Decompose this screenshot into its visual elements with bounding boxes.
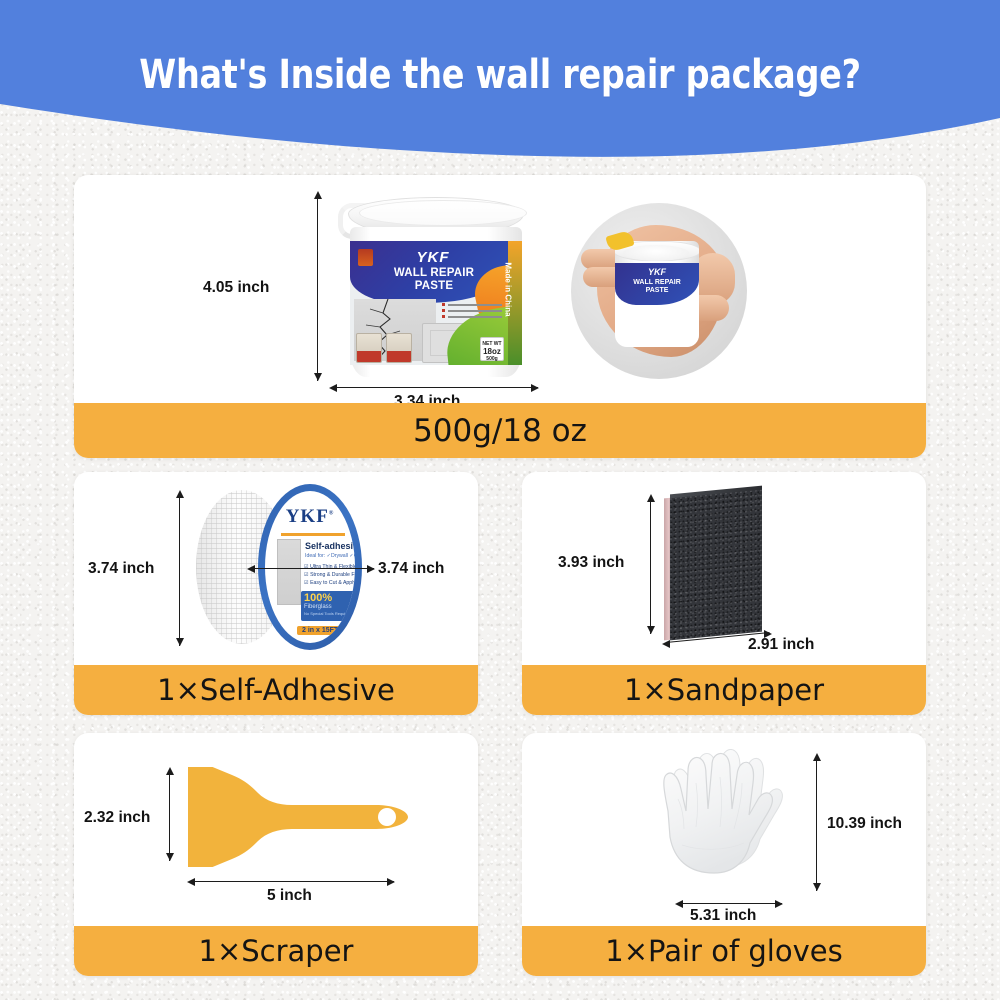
product-card-mesh: YKF® Self-adhesive Mesh Ideal for: ✓Dryw… [74, 472, 478, 715]
mesh-roll-label: YKF® Self-adhesive Mesh Ideal for: ✓Dryw… [265, 491, 355, 643]
hand-inset-photo: YKF WALL REPAIR PASTE [571, 203, 747, 379]
paste-tub-illustration: YKF WALL REPAIR PASTE Made in China [342, 189, 530, 385]
paste-height-arrow-bottom [314, 373, 322, 381]
mesh-fiberglass-badge: 100% Fiberglass No Special Tools Require… [301, 591, 355, 621]
sandpaper-width-label: 2.91 inch [748, 636, 814, 654]
mesh-brand-text: YKF® [265, 506, 355, 528]
scraper-card-label: 1×Scraper [74, 926, 478, 976]
hand-held-tub: YKF WALL REPAIR PASTE [615, 241, 699, 347]
mesh-brand-value: YKF [286, 506, 329, 527]
mesh-bullet-2: ☑ Strong & Durable Fiberglass [304, 571, 355, 579]
paste-width-arrow-right [531, 384, 539, 392]
mesh-bullets: ☑ Ultra Thin & Flexible ☑ Strong & Durab… [304, 563, 355, 587]
scraper-height-arrow-top [166, 767, 174, 775]
mesh-title: Self-adhesive Mesh [305, 541, 355, 551]
mesh-percent-sub: Fiberglass [304, 604, 354, 611]
hand-tub-name: WALL REPAIR PASTE [615, 279, 699, 295]
scraper-width-arrow-right [387, 878, 395, 886]
sandpaper-width-arrow-left [662, 640, 670, 648]
sandpaper-card-stage: 3.93 inch 2.91 inch [522, 472, 926, 665]
mesh-bullet-3: ☑ Easy to Cut & Apply [304, 579, 355, 587]
paste-card-label: 500g/18 oz [74, 403, 926, 458]
scraper-width-label: 5 inch [267, 887, 312, 905]
gloves-card-stage: 10.39 inch 5.31 inch [522, 733, 926, 926]
sandpaper-grit-face [670, 490, 762, 641]
scraper-height-label: 2.32 inch [84, 809, 150, 827]
paste-height-dimension-line [317, 195, 318, 381]
scraper-width-arrow-left [187, 878, 195, 886]
gloves-height-arrow-bottom [813, 883, 821, 891]
tub-net-weight-badge: NET WT 18oz 500g [480, 337, 504, 361]
tub-lid-top [359, 200, 527, 226]
gloves-card-label: 1×Pair of gloves [522, 926, 926, 976]
gloves-height-arrow-top [813, 753, 821, 761]
scraper-height-arrow-bottom [166, 853, 174, 861]
mesh-width-dimension-line [252, 568, 374, 569]
tub-label: YKF WALL REPAIR PASTE Made in China [350, 241, 522, 365]
mesh-size-badge: 2 in x 15FT [297, 626, 343, 635]
gloves-width-label: 5.31 inch [690, 907, 756, 925]
mesh-label-rule [281, 533, 345, 536]
sandpaper-height-arrow-top [647, 494, 655, 502]
tub-application-badges [356, 333, 412, 363]
gloves-width-arrow-right [775, 900, 783, 908]
tub-badge [356, 333, 382, 363]
tub-badge [386, 333, 412, 363]
sandpaper-card-label: 1×Sandpaper [522, 665, 926, 715]
hand-tub-brand: YKF [615, 267, 699, 277]
mesh-width-arrow-right [367, 565, 375, 573]
gloves-width-dimension-line [680, 903, 782, 904]
paste-card-stage: YKF WALL REPAIR PASTE Made in China [74, 175, 926, 403]
tub-bullet [442, 309, 502, 312]
tub-brand-text: YKF [350, 249, 516, 266]
paste-height-arrow-top [314, 191, 322, 199]
tub-bullet [442, 303, 502, 306]
mesh-height-arrow-top [176, 490, 184, 498]
hand-tub-paste-surface [623, 245, 689, 261]
scraper-illustration [180, 767, 416, 867]
mesh-tape-roll: YKF® Self-adhesive Mesh Ideal for: ✓Dryw… [196, 484, 362, 650]
mesh-crack-window [277, 539, 301, 605]
tub-feature-bullets [442, 303, 502, 321]
scraper-card-stage: 2.32 inch 5 inch [74, 733, 478, 926]
net-weight-grams: 500g [486, 356, 497, 362]
hand-tub-name-line1: WALL REPAIR [615, 279, 699, 287]
product-card-paste: YKF WALL REPAIR PASTE Made in China [74, 175, 926, 458]
mesh-height-arrow-bottom [176, 638, 184, 646]
mesh-percent: 100% [304, 593, 354, 604]
sandpaper-height-dimension-line [650, 498, 651, 634]
page-title: What's Inside the wall repair package? [35, 52, 965, 98]
paste-height-label: 4.05 inch [203, 279, 269, 297]
gloves-height-dimension-line [816, 757, 817, 891]
product-card-sandpaper: 3.93 inch 2.91 inch 1×Sandpaper [522, 472, 926, 715]
scraper-height-dimension-line [169, 771, 170, 861]
sandpaper-height-arrow-bottom [647, 626, 655, 634]
hand-tub-label: YKF WALL REPAIR PASTE [615, 263, 699, 347]
infographic-page: What's Inside the wall repair package? Y… [0, 0, 1000, 1000]
net-weight-value: 18oz [481, 347, 503, 356]
mesh-percent-note: No Special Tools Required [304, 611, 354, 616]
mesh-card-label: 1×Self-Adhesive [74, 665, 478, 715]
sandpaper-illustration [662, 494, 774, 640]
mesh-width-label: 3.74 inch [378, 560, 444, 578]
hand-tub-name-line2: PASTE [615, 287, 699, 295]
tub-bullet [442, 315, 502, 318]
sandpaper-height-label: 3.93 inch [558, 554, 624, 572]
product-card-scraper: 2.32 inch 5 inch 1×Scraper [74, 733, 478, 976]
gloves-illustration [638, 749, 810, 897]
page-header: What's Inside the wall repair package? [0, 0, 1000, 160]
scraper-width-dimension-line [192, 881, 394, 882]
gloves-width-arrow-left [675, 900, 683, 908]
mesh-card-stage: YKF® Self-adhesive Mesh Ideal for: ✓Dryw… [74, 472, 478, 665]
product-card-gloves: 10.39 inch 5.31 inch 1×Pair of gloves [522, 733, 926, 976]
gloves-height-label: 10.39 inch [827, 815, 902, 833]
mesh-roll-face: YKF® Self-adhesive Mesh Ideal for: ✓Dryw… [258, 484, 362, 650]
mesh-height-dimension-line [179, 494, 180, 646]
paste-width-dimension-line [334, 387, 538, 388]
mesh-subtitle: Ideal for: ✓Drywall ✓Crack Repair [305, 553, 355, 559]
tub-side-text: Made in China [503, 262, 512, 316]
mesh-bullet-1: ☑ Ultra Thin & Flexible [304, 563, 355, 571]
mesh-height-label: 3.74 inch [88, 560, 154, 578]
mesh-width-arrow-left [247, 565, 255, 573]
paste-width-arrow-left [329, 384, 337, 392]
